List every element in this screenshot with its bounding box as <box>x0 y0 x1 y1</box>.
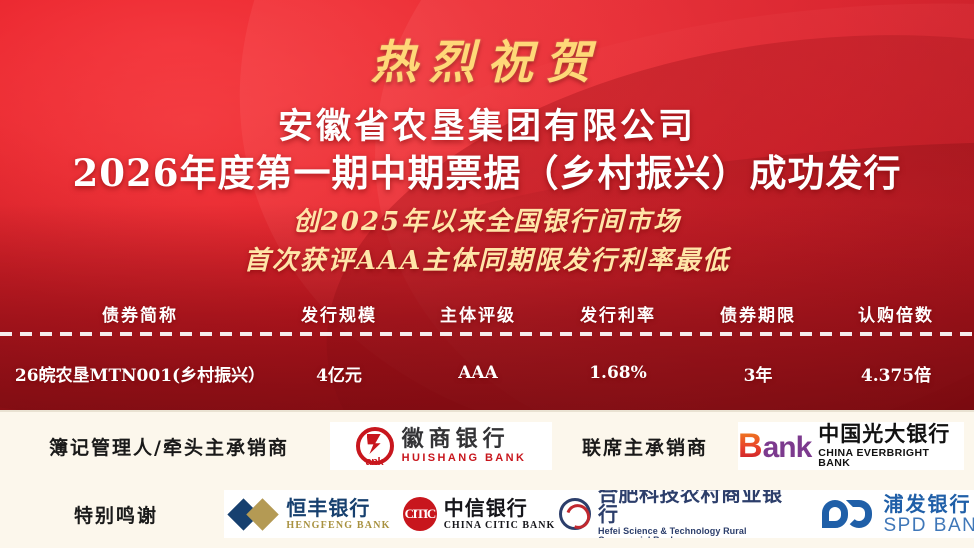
logo-hefei-rural-commercial-bank: 合肥科技农村商业银行 Hefei Science & Technology Ru… <box>559 490 801 538</box>
logo-huishang-bank: ank 徽商银行 HUISHANG BANK <box>330 422 552 470</box>
congratulations-poster: 热烈祝贺 安徽省农垦集团有限公司 2026年度第一期中期票据（乡村振兴）成功发行… <box>0 0 974 548</box>
logo-china-citic-bank: CITIC 中信银行 CHINA CITIC BANK <box>399 490 559 538</box>
table-header-subscription-multiple: 认购倍数 <box>828 301 964 326</box>
hefei-bank-name-en: Hefei Science & Technology Rural Commerc… <box>598 527 801 539</box>
huishang-bank-name-en: HUISHANG BANK <box>402 453 527 464</box>
spd-bank-name-en: SPD BANK <box>883 516 974 535</box>
label-bookrunner-lead-underwriter: 簿记管理人/牵头主承销商 <box>8 433 330 460</box>
huishang-bank-name-cn: 徽商银行 <box>402 428 527 450</box>
spd-bank-icon <box>822 498 874 530</box>
bond-issuance-title: 2026年度第一期中期票据（乡村振兴）成功发行 <box>0 143 974 197</box>
label-joint-lead-underwriter: 联席主承销商 <box>552 433 738 460</box>
citic-mark-text: CITIC <box>405 506 435 522</box>
huishang-mark-text: ank <box>366 456 383 468</box>
table-cell-coupon-rate: 1.68% <box>548 363 688 383</box>
bond-details-table: 债券简称 发行规模 主体评级 发行利率 债券期限 认购倍数 26皖农垦MTN00… <box>10 296 964 396</box>
congratulations-headline: 热烈祝贺 <box>0 26 974 92</box>
table-cell-issue-size: 4亿元 <box>270 361 408 386</box>
table-header-tenor: 债券期限 <box>688 301 828 326</box>
sponsor-row-special-thanks: 特别鸣谢 恒丰银行 HENGFENG BANK CITIC <box>0 480 974 548</box>
hefei-bank-name-cn: 合肥科技农村商业银行 <box>598 490 801 524</box>
logo-spd-bank: 浦发银行 SPD BANK <box>801 490 974 538</box>
table-cell-subscription-multiple: 4.375倍 <box>828 361 964 386</box>
table-cell-bond-name: 26皖农垦MTN001(乡村振兴） <box>10 361 270 386</box>
logo-china-everbright-bank: B ank 中国光大银行 CHINA EVERBRIGHT BANK <box>738 422 964 470</box>
table-header-coupon-rate: 发行利率 <box>548 301 688 326</box>
everbright-bank-name-en: CHINA EVERBRIGHT BANK <box>818 448 964 469</box>
table-header-issuer-rating: 主体评级 <box>408 301 548 326</box>
table-cell-tenor: 3年 <box>688 361 828 386</box>
everbright-bank-name-cn: 中国光大银行 <box>818 424 964 445</box>
everbright-mark-b: B <box>738 429 763 463</box>
sponsor-row-lead-underwriter: 簿记管理人/牵头主承销商 ank 徽商银行 HUISHANG BANK 联席主承… <box>0 412 974 480</box>
everbright-bank-icon: B ank <box>738 429 811 463</box>
citic-bank-name-cn: 中信银行 <box>444 498 556 518</box>
everbright-mark-ank: ank <box>763 433 812 463</box>
issuer-name-title: 安徽省农垦集团有限公司 <box>0 98 974 149</box>
citic-bank-icon: CITIC <box>403 497 437 531</box>
table-header-issue-size: 发行规模 <box>270 301 408 326</box>
hengfeng-bank-name-en: HENGFENG BANK <box>286 521 390 531</box>
logo-hengfeng-bank: 恒丰银行 HENGFENG BANK <box>224 490 399 538</box>
table-row: 26皖农垦MTN001(乡村振兴） 4亿元 AAA 1.68% 3年 4.375… <box>10 352 964 394</box>
subtitle-line-1: 创2025年以来全国银行间市场 <box>0 201 974 238</box>
sponsor-panel: 簿记管理人/牵头主承销商 ank 徽商银行 HUISHANG BANK 联席主承… <box>0 410 974 548</box>
huishang-bank-icon: ank <box>356 427 394 465</box>
hefei-rural-commercial-bank-icon <box>559 498 591 530</box>
hengfeng-bank-icon <box>232 500 278 528</box>
table-cell-issuer-rating: AAA <box>408 363 548 383</box>
table-header-row: 债券简称 发行规模 主体评级 发行利率 债券期限 认购倍数 <box>10 296 964 330</box>
label-special-thanks: 特别鸣谢 <box>8 501 224 528</box>
subtitle-line-2: 首次获评AAA主体同期限发行利率最低 <box>0 240 974 277</box>
spd-bank-name-cn: 浦发银行 <box>883 494 974 514</box>
table-dashed-divider <box>0 332 974 336</box>
citic-bank-name-en: CHINA CITIC BANK <box>444 521 556 531</box>
hengfeng-bank-name-cn: 恒丰银行 <box>286 498 390 518</box>
table-header-bond-name: 债券简称 <box>10 301 270 326</box>
